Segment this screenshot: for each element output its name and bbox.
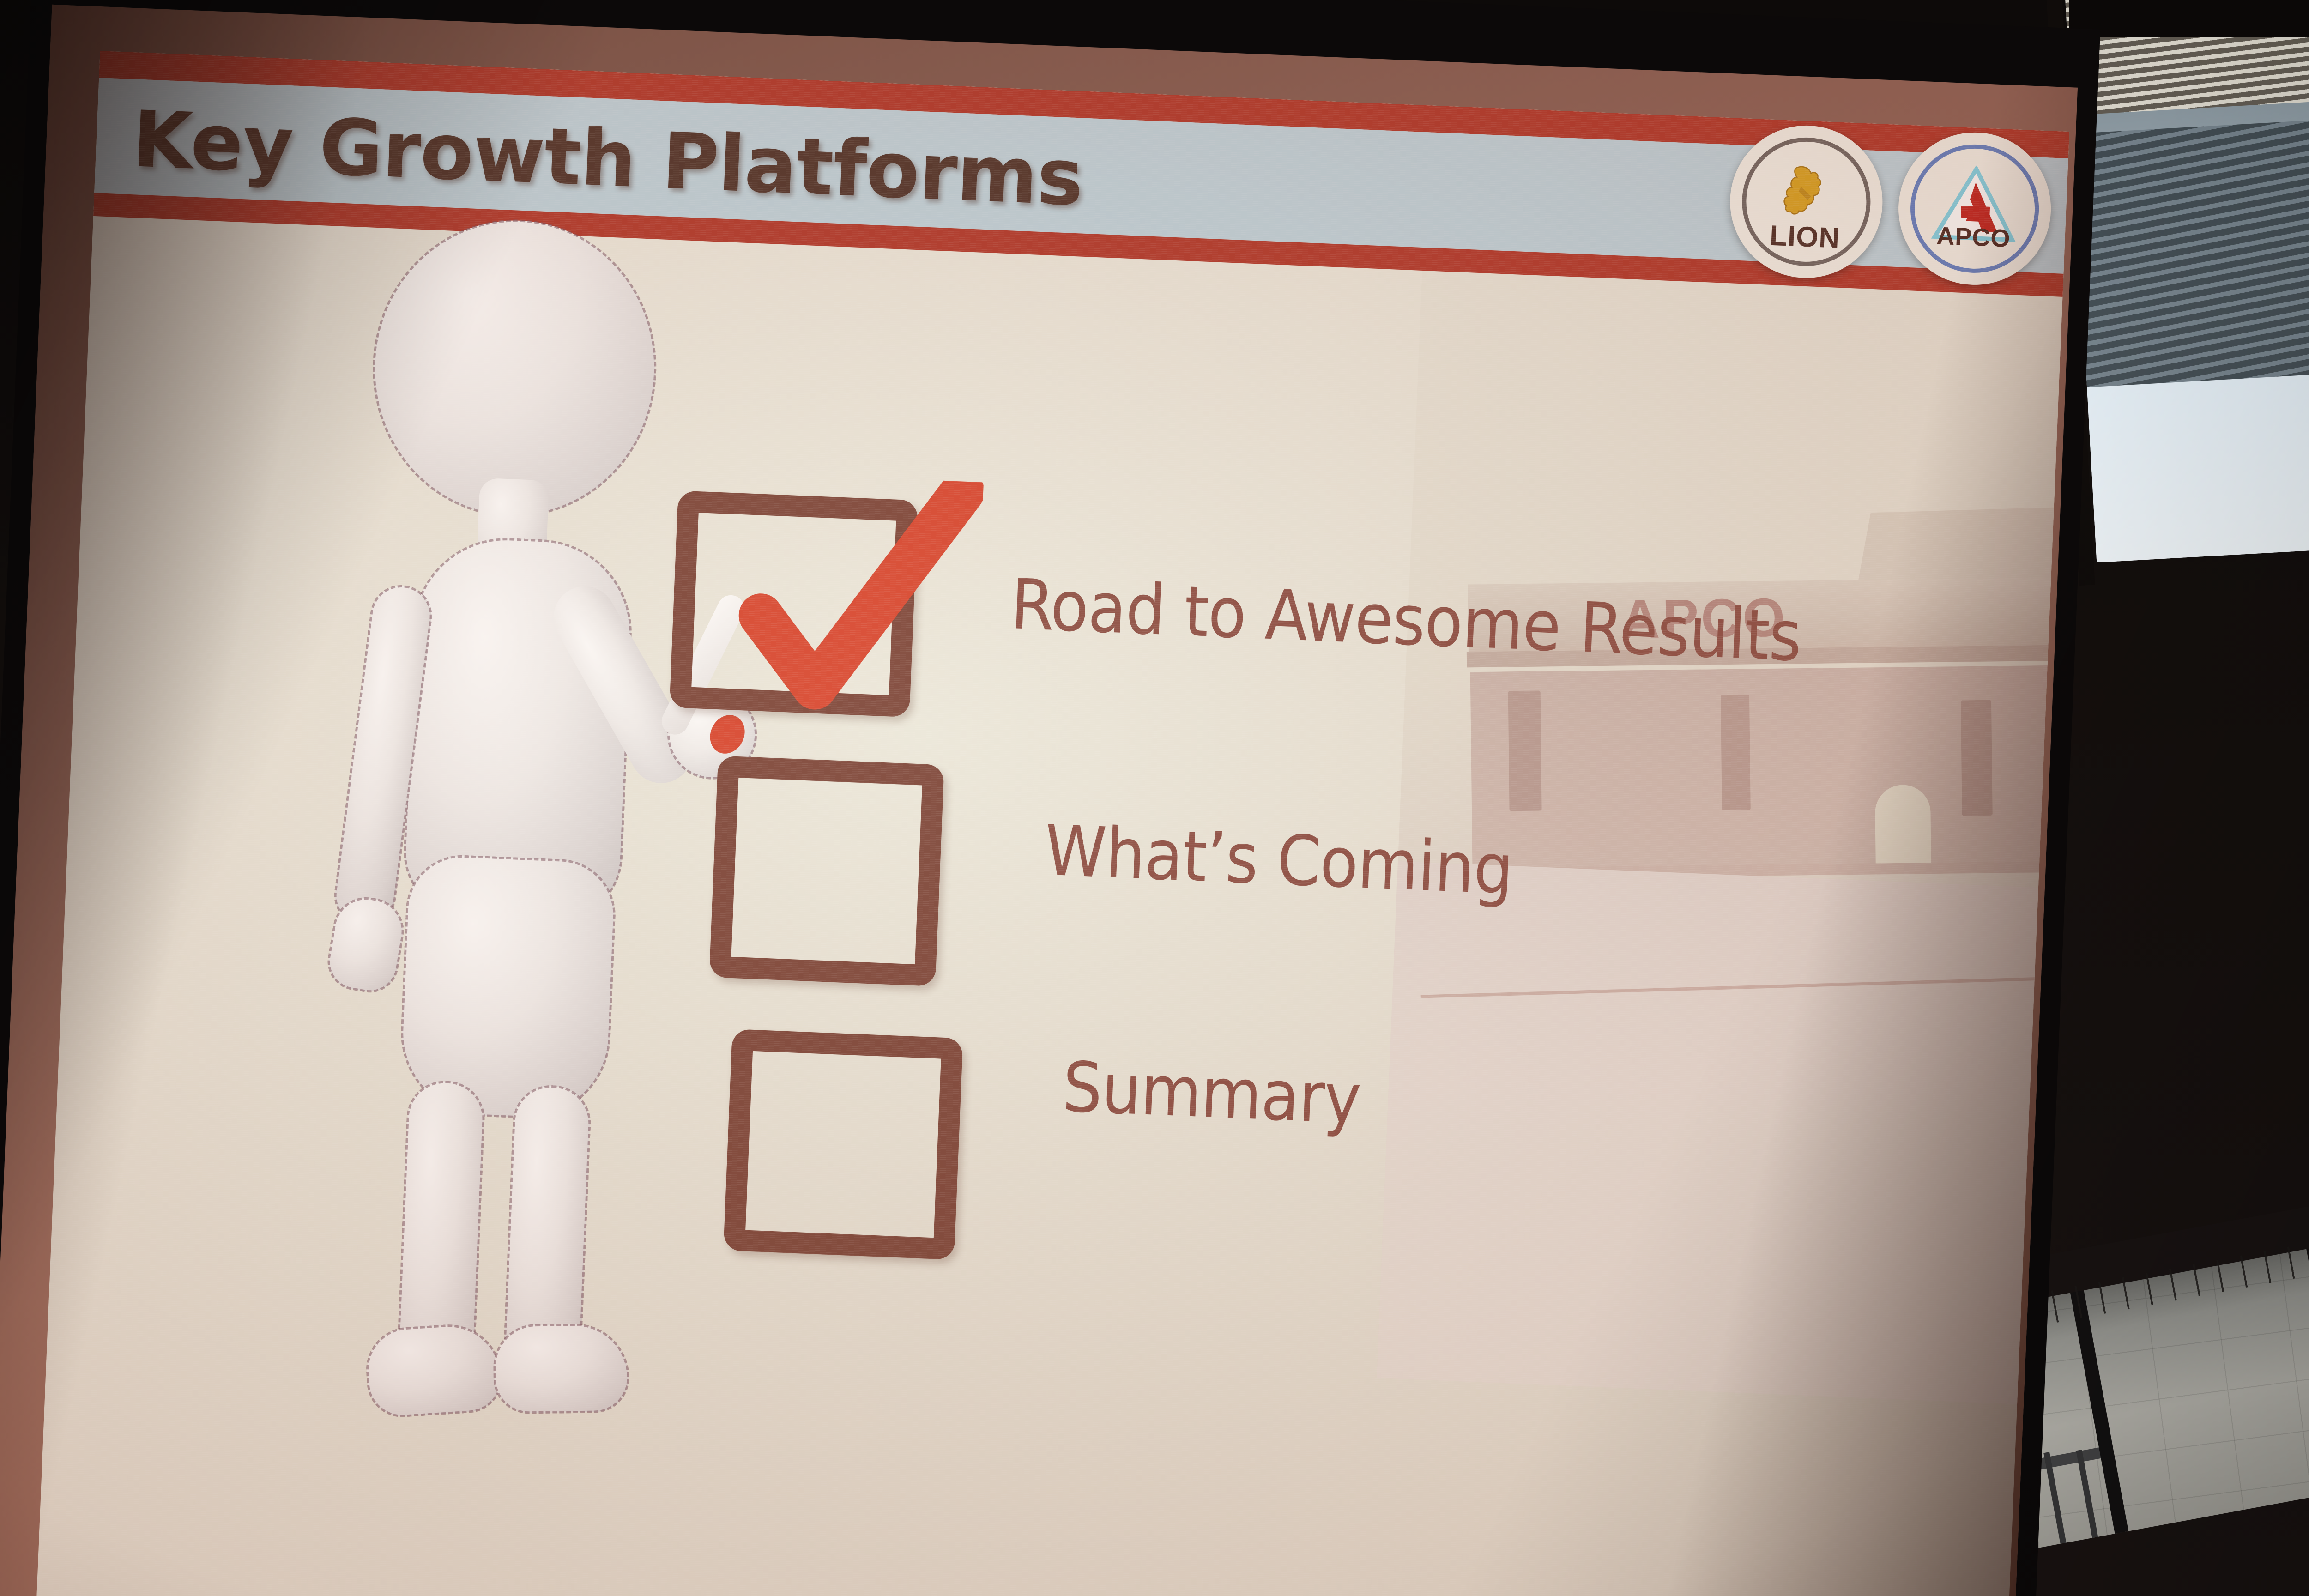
canopy-soffit: [1857, 507, 2063, 587]
eave-slats-lower: [2064, 110, 2309, 393]
lion-rampant-icon: [1776, 160, 1838, 220]
projection-screen-surface: APCO Key Growth Platforms: [0, 5, 2078, 1596]
forecourt-paving: [1377, 861, 2044, 1404]
presentation-slide: APCO Key Growth Platforms: [32, 51, 2069, 1596]
photo-of-projected-slide: APCO Key Growth Platforms: [0, 0, 2309, 1596]
window-top-right: [2064, 0, 2309, 562]
figure-left-hand: [325, 894, 408, 996]
figure-left-foot: [364, 1322, 504, 1418]
fuel-pump: [1508, 691, 1542, 811]
figure-hips: [399, 854, 617, 1121]
eave-shadow: [2069, 0, 2309, 37]
forecourt-bollard: [1875, 785, 1931, 873]
apco-logo-wordmark: APCO: [1897, 220, 2050, 254]
list-item: Summary: [1061, 1047, 1362, 1140]
fuel-pump: [1721, 695, 1751, 810]
figure-head: [368, 215, 661, 521]
figure-right-foot: [494, 1324, 629, 1413]
lion-logo-wordmark: LION: [1728, 218, 1882, 256]
red-checkmark-icon: [714, 472, 983, 740]
projection-screen-frame: APCO Key Growth Platforms: [0, 0, 2100, 1596]
checkbox-3[interactable]: [723, 1029, 963, 1260]
sky-area: [2064, 363, 2309, 562]
fuel-pump: [1961, 700, 1993, 816]
checkbox-2[interactable]: [709, 756, 944, 986]
